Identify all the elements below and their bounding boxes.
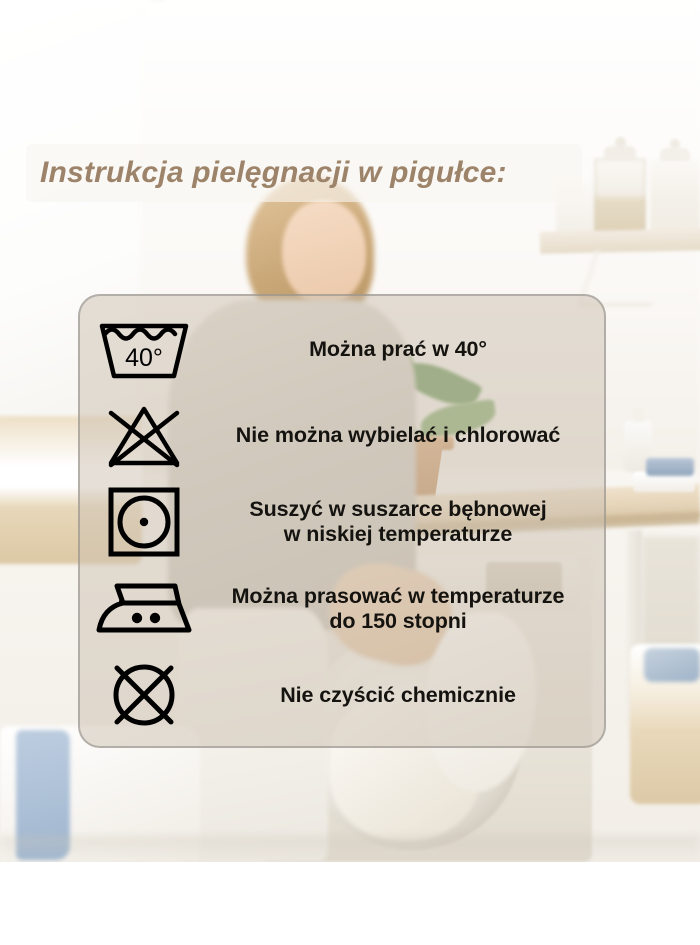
jar-lid-right (660, 148, 690, 161)
do-not-dry-clean-icon (80, 659, 208, 731)
care-label-line1: Nie czyścić chemicznie (280, 683, 516, 707)
care-instructions-panel: 40° Można prać w 40° Nie można wybielać … (78, 294, 606, 748)
care-label: Można prasować w temperaturze do 150 sto… (208, 584, 604, 634)
care-label-line1: Można prasować w temperaturze (232, 584, 565, 608)
care-label-line1: Można prać w 40° (309, 337, 487, 361)
bottle-neck (633, 408, 644, 422)
jar-knob-left (615, 137, 626, 148)
care-row: Suszyć w suszarce bębnowej w niskiej tem… (80, 485, 604, 559)
floor-shadow (0, 836, 700, 862)
woman-face (282, 200, 366, 304)
jar-lid-left (604, 146, 636, 160)
care-row: Nie czyścić chemicznie (80, 658, 604, 732)
care-label: Można prać w 40° (208, 337, 604, 362)
page-title: Instrukcja pielęgnacji w pigułce: (40, 156, 507, 190)
folded-blue-towel (646, 458, 694, 476)
care-label-line2: w niskiej temperaturze (208, 522, 588, 547)
care-label: Nie można wybielać i chlorować (208, 423, 604, 448)
title-band: Instrukcja pielęgnacji w pigułce: (26, 144, 582, 202)
jar-knob-right (670, 139, 680, 149)
care-label-line1: Suszyć w suszarce bębnowej (249, 497, 546, 521)
care-instructions-infographic: Instrukcja pielęgnacji w pigułce: 40° Mo… (0, 0, 700, 945)
wash-temperature-label: 40° (125, 344, 163, 372)
tumble-dry-low-icon (80, 486, 208, 558)
care-row: Można prasować w temperaturze do 150 sto… (80, 572, 604, 646)
care-label: Suszyć w suszarce bębnowej w niskiej tem… (208, 497, 604, 547)
do-not-bleach-icon (80, 403, 208, 469)
glass-jar-right (650, 160, 700, 236)
basket-cloth (644, 648, 700, 682)
wash-tub-40-icon: 40° (80, 316, 208, 382)
care-label-line2: do 150 stopni (208, 609, 588, 634)
care-row: 40° Można prać w 40° (80, 312, 604, 386)
iron-two-dots-icon (80, 578, 208, 640)
care-row: Nie można wybielać i chlorować (80, 399, 604, 473)
care-label-line1: Nie można wybielać i chlorować (236, 423, 560, 447)
care-label: Nie czyścić chemicznie (208, 683, 604, 708)
glass-jar-left (594, 158, 646, 236)
